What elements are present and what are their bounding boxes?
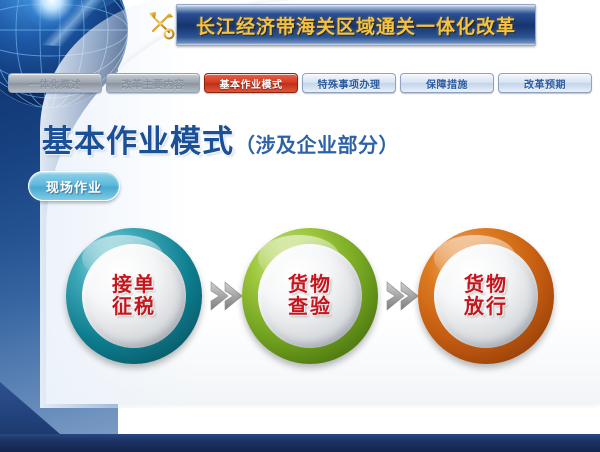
footer-bar	[0, 434, 600, 452]
process-node-goods-inspection: 货物 查验	[242, 228, 378, 364]
section-badge-onsite: 现场作业	[28, 171, 120, 201]
node-label-line2: 查验	[288, 296, 332, 318]
node-label-line2: 征税	[112, 296, 156, 318]
tab-basic-workflow[interactable]: 基本作业模式	[204, 73, 298, 93]
page-title-main: 基本作业模式	[42, 116, 234, 161]
slide-title-text: 长江经济带海关区域通关一体化改革	[196, 12, 516, 39]
presentation-slide: 长江经济带海关区域通关一体化改革 一体化概述 改革主要内容 基本作业模式 特殊事…	[0, 0, 600, 452]
slide-header: 长江经济带海关区域通关一体化改革	[0, 0, 600, 60]
slide-title-banner: 长江经济带海关区域通关一体化改革	[176, 4, 536, 46]
tab-reform-content[interactable]: 改革主要内容	[106, 73, 200, 93]
section-nav-tabs[interactable]: 一体化概述 改革主要内容 基本作业模式 特殊事项办理 保障措施 改革预期	[8, 73, 592, 93]
node-disc: 货物 放行	[434, 244, 538, 348]
node-label-line1: 货物	[464, 274, 508, 296]
node-disc: 货物 查验	[258, 244, 362, 348]
process-node-accept-order: 接单 征税	[66, 228, 202, 364]
node-label-line1: 货物	[288, 274, 332, 296]
tab-expected-result[interactable]: 改革预期	[498, 73, 592, 93]
tab-overview[interactable]: 一体化概述	[8, 73, 102, 93]
node-label-line2: 放行	[464, 296, 508, 318]
process-node-goods-release: 货物 放行	[418, 228, 554, 364]
process-flow-diagram: 接单 征税 货物	[66, 228, 562, 368]
chevron-right-icon	[208, 280, 242, 312]
page-title-subtitle: （涉及企业部分）	[235, 129, 399, 158]
chevron-right-icon	[384, 280, 418, 312]
customs-emblem-icon	[145, 8, 177, 42]
node-disc: 接单 征税	[82, 244, 186, 348]
page-title: 基本作业模式 （涉及企业部分）	[42, 116, 399, 161]
tab-safeguards[interactable]: 保障措施	[400, 73, 494, 93]
tab-special-matters[interactable]: 特殊事项办理	[302, 73, 396, 93]
node-label-line1: 接单	[112, 274, 156, 296]
section-badge-label: 现场作业	[46, 177, 102, 196]
